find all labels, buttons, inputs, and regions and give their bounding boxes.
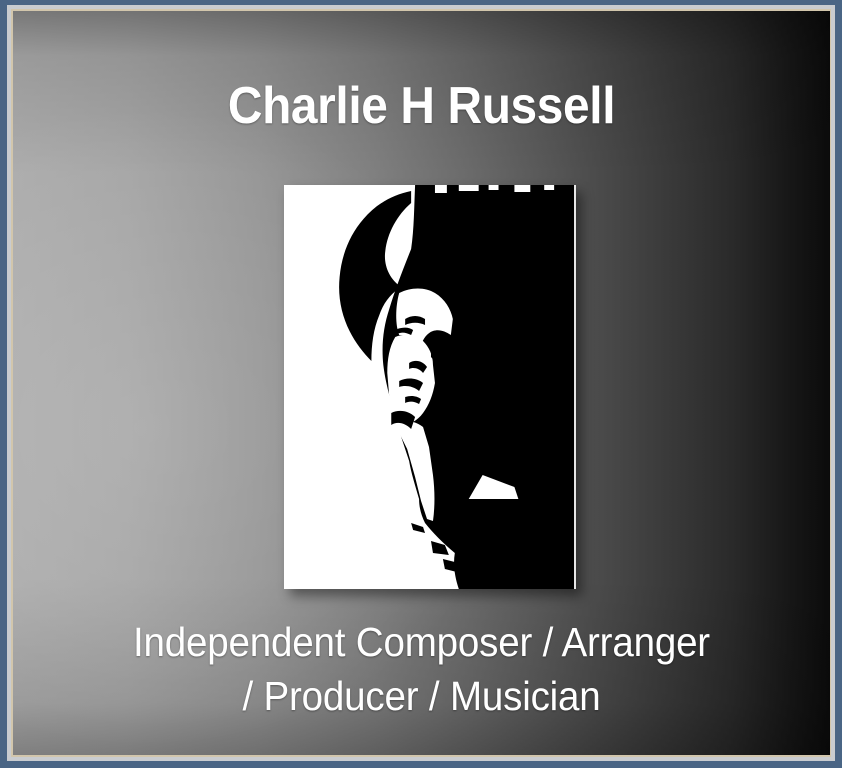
- portrait-photo-canvas: [284, 185, 576, 589]
- subtitle-line-2: / Producer / Musician: [75, 669, 768, 723]
- subtitle-line-1: Independent Composer / Arranger: [75, 615, 768, 669]
- portrait-photo: [284, 185, 576, 589]
- page-title: Charlie H Russell: [46, 79, 798, 134]
- slide-frame: Charlie H Russell: [0, 0, 842, 768]
- slide-canvas: Charlie H Russell: [13, 11, 830, 755]
- subtitle: Independent Composer / Arranger / Produc…: [75, 615, 768, 723]
- portrait-silhouette-graphic: [284, 185, 574, 589]
